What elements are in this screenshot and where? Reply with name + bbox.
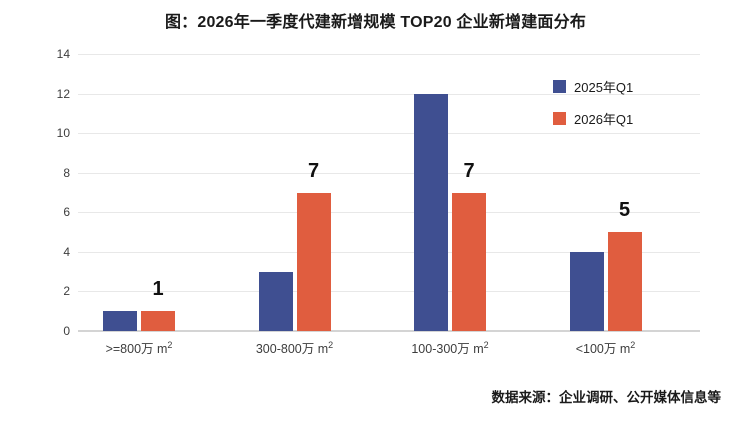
bar-series-a[interactable] — [259, 272, 293, 331]
bar-series-a[interactable] — [414, 94, 448, 331]
y-tick-label: 8 — [10, 166, 70, 180]
x-tick-unit: m — [154, 342, 168, 356]
x-tick-unit-exponent: 2 — [328, 340, 333, 350]
x-axis: >=800万 m2300-800万 m2100-300万 m2<100万 m2 — [78, 338, 700, 362]
bar-series-b[interactable] — [141, 311, 175, 331]
x-tick-label: 100-300万 m2 — [360, 338, 540, 357]
chart-figure: 图：2026年一季度代建新增规模 TOP20 企业新增建面分布 02468101… — [0, 0, 751, 422]
legend-swatch-icon — [553, 112, 566, 125]
legend-item[interactable]: 2025年Q1 — [553, 70, 633, 102]
x-tick-label: 300-800万 m2 — [205, 338, 385, 357]
bar-series-b[interactable] — [452, 193, 486, 332]
y-tick-label: 0 — [10, 324, 70, 338]
x-tick-unit: m — [470, 342, 484, 356]
x-tick-main: 300-800万 — [256, 342, 314, 356]
y-tick-label: 2 — [10, 284, 70, 298]
chart-title: 图：2026年一季度代建新增规模 TOP20 企业新增建面分布 — [0, 8, 751, 32]
bar-group — [414, 54, 486, 331]
y-tick-label: 4 — [10, 245, 70, 259]
x-tick-unit: m — [314, 342, 328, 356]
y-tick-label: 10 — [10, 126, 70, 140]
x-tick-label: >=800万 m2 — [49, 338, 229, 357]
bar-group — [103, 54, 175, 331]
y-tick-label: 14 — [10, 47, 70, 61]
legend-swatch-icon — [553, 80, 566, 93]
legend-label: 2025年Q1 — [574, 77, 633, 96]
x-tick-unit-exponent: 2 — [630, 340, 635, 350]
bar-series-b[interactable] — [297, 193, 331, 332]
bar-series-b[interactable] — [608, 232, 642, 331]
bar-series-a[interactable] — [570, 252, 604, 331]
x-tick-label: <100万 m2 — [516, 338, 696, 357]
x-tick-main: 100-300万 — [411, 342, 469, 356]
x-tick-unit-exponent: 2 — [167, 340, 172, 350]
source-note: 数据来源：企业调研、公开媒体信息等 — [492, 386, 722, 406]
legend-label: 2026年Q1 — [574, 109, 633, 128]
y-axis: 02468101214 — [0, 54, 70, 331]
legend-item[interactable]: 2026年Q1 — [553, 102, 633, 134]
x-tick-main: >=800万 — [106, 342, 154, 356]
x-tick-main: <100万 — [576, 342, 617, 356]
y-tick-label: 6 — [10, 205, 70, 219]
y-tick-label: 12 — [10, 87, 70, 101]
bar-series-a[interactable] — [103, 311, 137, 331]
x-tick-unit-exponent: 2 — [484, 340, 489, 350]
bar-group — [259, 54, 331, 331]
x-tick-unit: m — [616, 342, 630, 356]
chart-legend: 2025年Q12026年Q1 — [553, 70, 633, 134]
